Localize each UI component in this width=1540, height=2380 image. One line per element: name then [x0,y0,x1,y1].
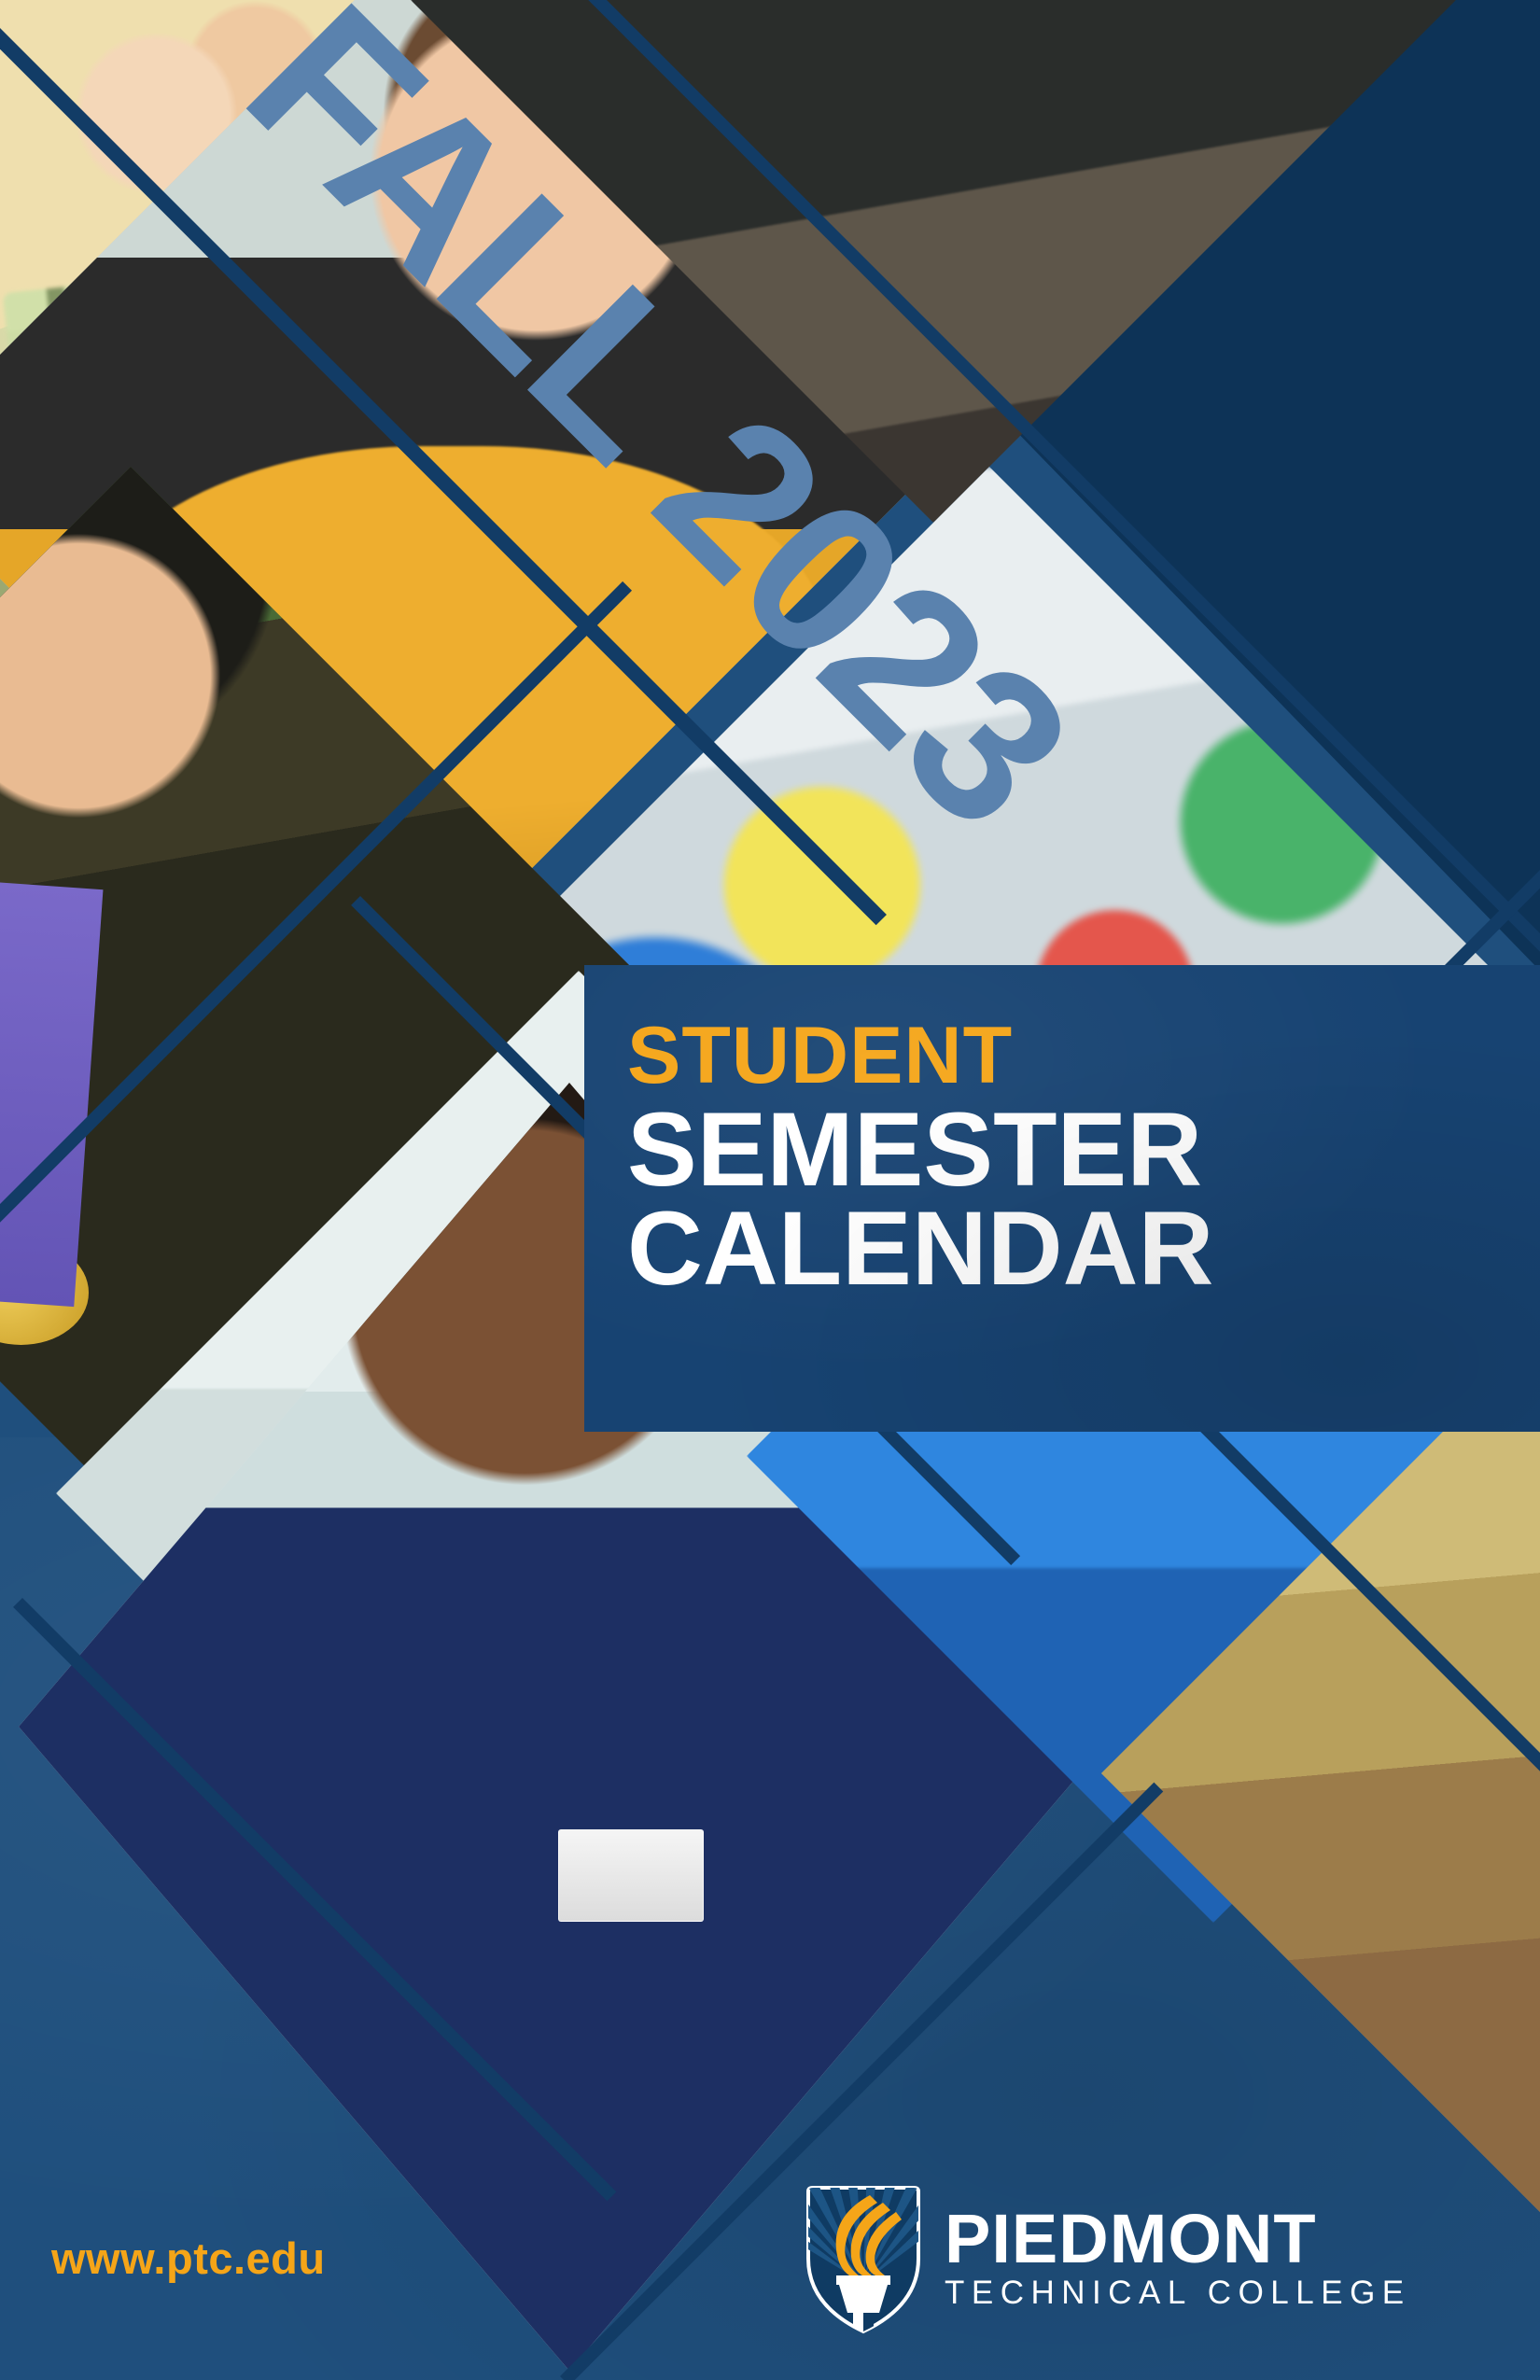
poster-canvas: FALL 2023 STUDENT SEMESTER CALENDAR www.… [0,0,1540,2380]
logo-name: PIEDMONT [945,2207,1411,2271]
title-panel: STUDENT SEMESTER CALENDAR [584,965,1540,1432]
title-line-student: STUDENT [627,1017,1521,1095]
site-url[interactable]: www.ptc.edu [51,2233,326,2284]
title-inner: STUDENT SEMESTER CALENDAR [627,1017,1521,1298]
medal-shape [0,1240,89,1345]
piedmont-logo-lockup: PIEDMONT TECHNICAL COLLEGE [805,2182,1411,2337]
title-line-calendar: CALENDAR [627,1199,1521,1298]
logo-subtitle: TECHNICAL COLLEGE [945,2275,1411,2312]
id-badge-shape [558,1829,703,1922]
logo-wordmark: PIEDMONT TECHNICAL COLLEGE [945,2207,1411,2312]
title-line-semester: SEMESTER [627,1100,1521,1199]
shield-torch-icon [805,2182,922,2337]
